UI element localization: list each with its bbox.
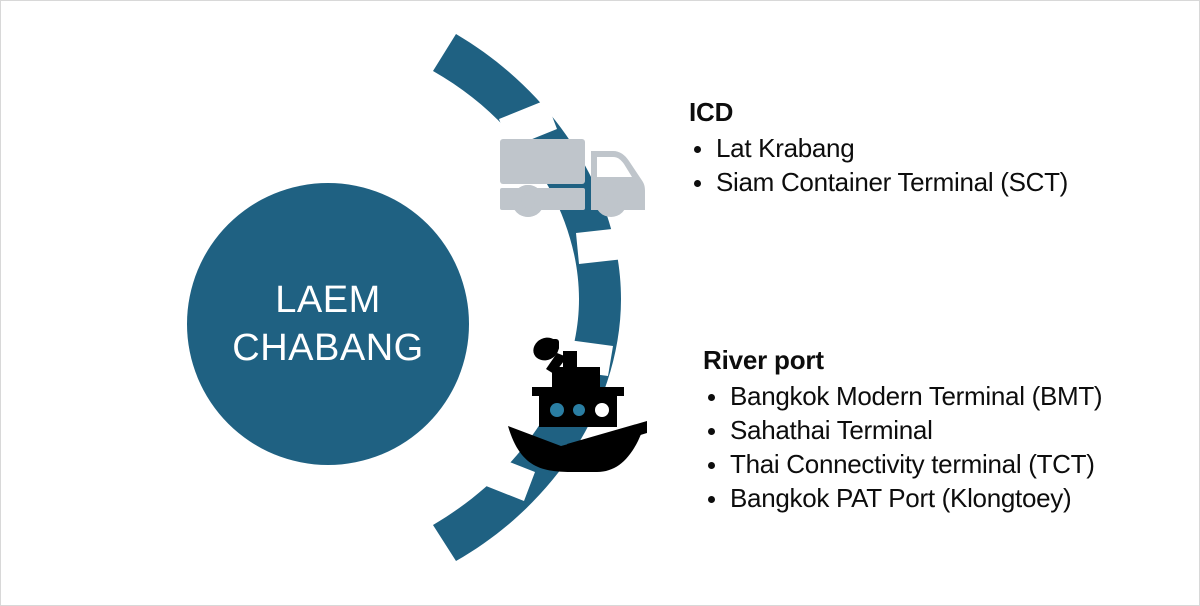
truck-icon bbox=[500, 139, 645, 217]
diagram-canvas: LAEM CHABANG ICD Lat Krabang Siam Contai… bbox=[0, 0, 1200, 606]
list-item: Siam Container Terminal (SCT) bbox=[689, 165, 1068, 199]
icd-heading: ICD bbox=[689, 97, 1068, 127]
icd-group: ICD Lat Krabang Siam Container Terminal … bbox=[689, 97, 1068, 199]
list-item: Bangkok Modern Terminal (BMT) bbox=[703, 379, 1102, 413]
river-port-group: River port Bangkok Modern Terminal (BMT)… bbox=[703, 345, 1102, 515]
icd-list: Lat Krabang Siam Container Terminal (SCT… bbox=[689, 131, 1068, 199]
river-port-heading: River port bbox=[703, 345, 1102, 375]
list-item: Thai Connectivity terminal (TCT) bbox=[703, 447, 1102, 481]
diagram-graphics bbox=[1, 1, 1200, 606]
hub-circle bbox=[187, 183, 469, 465]
list-item: Sahathai Terminal bbox=[703, 413, 1102, 447]
river-port-list: Bangkok Modern Terminal (BMT) Sahathai T… bbox=[703, 379, 1102, 515]
list-item: Lat Krabang bbox=[689, 131, 1068, 165]
ship-icon bbox=[508, 334, 647, 472]
list-item: Bangkok PAT Port (Klongtoey) bbox=[703, 481, 1102, 515]
